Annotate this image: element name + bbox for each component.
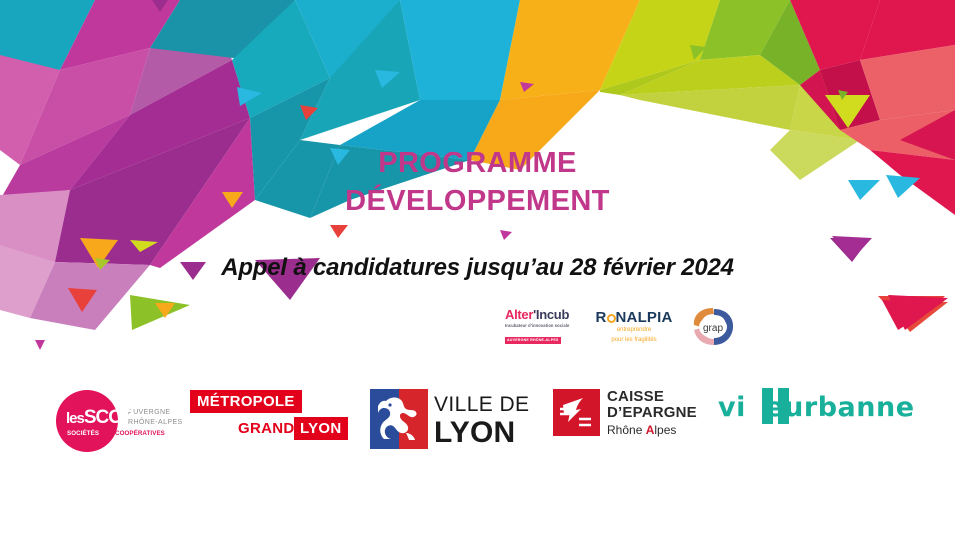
caisse-epargne-line-2: D’EPARGNE [607, 405, 697, 421]
lescop-region-line-2: RHÔNE-ALPES [128, 418, 183, 428]
lescop-region-label: AUVERGNE RHÔNE-ALPES [128, 408, 183, 428]
lescop-word-les: les [66, 410, 84, 427]
alterincub-logo: Alter'Incub Incubateur d'innovation soci… [505, 308, 579, 346]
alterincub-wordmark: Alter'Incub [505, 308, 579, 321]
caisse-epargne-rhone: Rhône [607, 423, 646, 437]
alterincub-name-incub: 'Incub [533, 307, 569, 322]
caisse-epargne-logo: CAISSE D’EPARGNE Rhône Alpes [553, 386, 713, 442]
caisse-epargne-line-1: CAISSE [607, 389, 697, 405]
alterincub-tagline: Incubateur d'innovation sociale [505, 323, 579, 328]
incubator-logo-row: Alter'Incub Incubateur d'innovation soci… [505, 303, 750, 351]
slide-title: PROGRAMME DÉVELOPPEMENT [0, 144, 955, 221]
villeurbanne-bars-icon [762, 388, 789, 424]
caisse-epargne-squirrel-icon [553, 389, 600, 436]
presentation-slide: PROGRAMME DÉVELOPPEMENT Appel à candidat… [0, 0, 955, 536]
caisse-epargne-alpes-rest: lpes [654, 423, 676, 437]
ville-de-lyon-wordmark: VILLE DE LYON [434, 394, 529, 448]
alterincub-region-band: AUVERGNE RHÔNE-ALPES [505, 337, 561, 344]
title-line-programme: PROGRAMME [0, 144, 955, 182]
lescop-word-scop: SCOP [84, 407, 134, 428]
villeurbanne-bar-2 [778, 388, 789, 424]
lescop-cooperatives-label: COOPÉRATIVES [115, 430, 165, 437]
lescop-region-line-1: AUVERGNE [128, 408, 183, 418]
ronalpia-name-r: R [595, 309, 606, 326]
grap-wordmark: grap [703, 323, 723, 334]
lescop-wordmark: lesSCOP [66, 408, 134, 427]
metropole-grand-lyon-logo: MÉTROPOLE GRAND LYON [190, 386, 342, 442]
metropole-grand-label: GRAND [234, 417, 299, 440]
grap-swirl-icon: grap [689, 305, 737, 349]
alterincub-name-alter: Alter [505, 307, 533, 322]
ronalpia-tagline-line-2: pour les fragilités [593, 337, 675, 345]
metropole-label: MÉTROPOLE [190, 390, 302, 413]
ronalpia-logo: RNALPIA entreprendre pour les fragilités [593, 310, 675, 344]
villeurbanne-logo: villeurbanne [718, 386, 913, 426]
ronalpia-tagline-line-1: entreprendre [593, 327, 675, 335]
metropole-lyon-label: LYON [294, 417, 348, 440]
title-line-developpement: DÉVELOPPEMENT [0, 182, 955, 220]
caisse-epargne-wordmark: CAISSE D’EPARGNE Rhône Alpes [607, 389, 697, 438]
grap-logo: grap [689, 305, 737, 349]
institution-logo-row: lesSCOP SOCIÉTÉS COOPÉRATIVES AUVERGNE R… [0, 386, 955, 458]
ville-de-lyon-logo: VILLE DE LYON [370, 386, 530, 452]
lescop-societes-label: SOCIÉTÉS [67, 430, 99, 437]
ronalpia-name-rest: NALPIA [616, 309, 673, 326]
ville-de-lyon-line-2: LYON [434, 418, 529, 448]
villeurbanne-wordmark: villeurbanne [718, 394, 915, 421]
villeurbanne-bar-1 [762, 388, 773, 424]
ronalpia-wordmark: RNALPIA [593, 310, 675, 325]
lyon-lion-shield-icon [370, 389, 428, 449]
slide-subtitle: Appel à candidatures jusqu’au 28 février… [0, 254, 955, 282]
ville-de-lyon-line-1: VILLE DE [434, 394, 529, 415]
villeurbanne-part-1: vi [718, 392, 746, 423]
caisse-epargne-line-3: Rhône Alpes [607, 423, 697, 437]
ronalpia-circle-o-icon [607, 314, 616, 323]
